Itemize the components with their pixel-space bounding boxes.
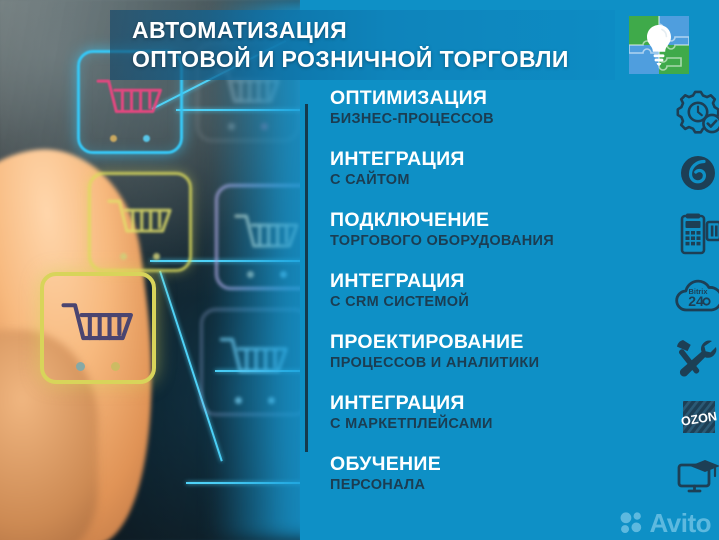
shopping-cart-icon <box>103 193 177 251</box>
hammer-wrench-icon <box>671 333 719 379</box>
service-title: ПРОЕКТИРОВАНИЕ <box>330 330 719 354</box>
service-title: ОПТИМИЗАЦИЯ <box>330 86 719 110</box>
bitrix-b-circle-icon <box>671 150 719 196</box>
cart-tile-focus <box>40 272 156 384</box>
ozon-logo-icon: OZON <box>671 394 719 440</box>
service-subtitle: С CRM СИСТЕМОЙ <box>330 293 719 312</box>
services-panel: ОПТИМИЗАЦИЯ БИЗНЕС-ПРОЦЕССОВ <box>300 0 719 540</box>
service-subtitle: С САЙТОМ <box>330 171 719 190</box>
service-title: ПОДКЛЮЧЕНИЕ <box>330 208 719 232</box>
gear-clock-check-icon <box>671 89 719 135</box>
bitrix24-number-text: 24 <box>688 293 704 309</box>
service-title: ОБУЧЕНИЕ <box>330 452 719 476</box>
service-title: ИНТЕГРАЦИЯ <box>330 391 719 415</box>
service-item-equipment[interactable]: ПОДКЛЮЧЕНИЕ ТОРГОВОГО ОБОРУДОВАНИЯ <box>330 208 719 269</box>
avito-wordmark: Avito <box>649 510 711 536</box>
service-subtitle: ТОРГОВОГО ОБОРУДОВАНИЯ <box>330 232 719 251</box>
promo-poster: АВТОМАТИЗАЦИЯ ОПТОВОЙ И РОЗНИЧНОЙ ТОРГОВ… <box>0 0 719 540</box>
service-subtitle: БИЗНЕС-ПРОЦЕССОВ <box>330 110 719 129</box>
service-subtitle: С МАРКЕТПЛЕЙСАМИ <box>330 415 719 434</box>
service-item-crm-integration[interactable]: ИНТЕГРАЦИЯ С CRM СИСТЕМОЙ Bitrix 24 <box>330 269 719 330</box>
service-subtitle: ПЕРСОНАЛА <box>330 476 719 495</box>
shopping-cart-icon <box>57 296 139 360</box>
avito-watermark: Avito <box>619 510 711 536</box>
service-title: ИНТЕГРАЦИЯ <box>330 147 719 171</box>
avito-dots-icon <box>619 510 645 536</box>
cart-tile-wheels <box>91 253 189 260</box>
pos-terminal-icon <box>671 211 719 257</box>
service-item-marketplace-integration[interactable]: ИНТЕГРАЦИЯ С МАРКЕТПЛЕЙСАМИ OZON <box>330 391 719 452</box>
service-subtitle: ПРОЦЕССОВ И АНАЛИТИКИ <box>330 354 719 373</box>
service-title: ИНТЕГРАЦИЯ <box>330 269 719 293</box>
photo-edge-glow <box>210 0 300 540</box>
shopping-cart-icon <box>92 72 168 133</box>
bitrix24-cloud-icon: Bitrix 24 <box>671 272 719 318</box>
cart-tile-wheels <box>80 135 180 142</box>
cart-tile-yellow <box>88 172 192 272</box>
vertical-divider <box>305 104 308 452</box>
service-item-optimization[interactable]: ОПТИМИЗАЦИЯ БИЗНЕС-ПРОЦЕССОВ <box>330 86 719 147</box>
background-photo <box>0 0 300 540</box>
monitor-graduation-cap-icon <box>671 455 719 501</box>
cart-tile-wheels <box>44 362 152 371</box>
service-item-site-integration[interactable]: ИНТЕГРАЦИЯ С САЙТОМ <box>330 147 719 208</box>
service-item-training[interactable]: ОБУЧЕНИЕ ПЕРСОНАЛА <box>330 452 719 513</box>
services-list: ОПТИМИЗАЦИЯ БИЗНЕС-ПРОЦЕССОВ <box>330 86 719 513</box>
service-item-design[interactable]: ПРОЕКТИРОВАНИЕ ПРОЦЕССОВ И АНАЛИТИКИ <box>330 330 719 391</box>
